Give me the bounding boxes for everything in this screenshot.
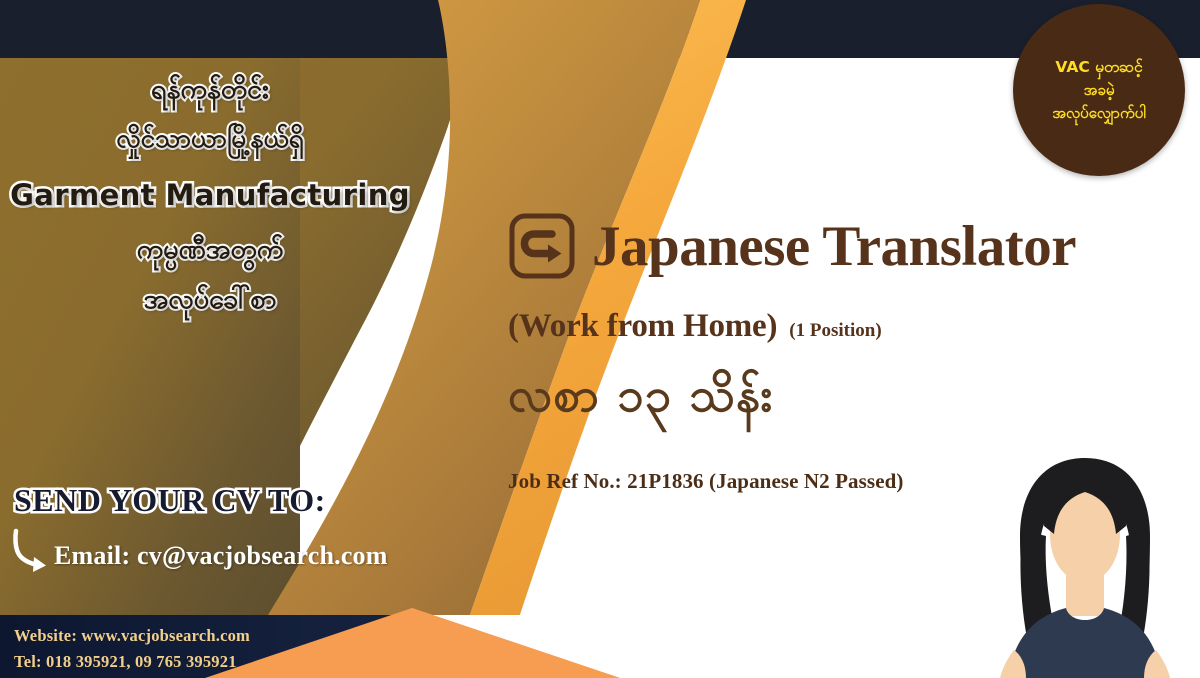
location-region-line: ရန်ကုန်တိုင်း	[0, 76, 420, 104]
location-township-line: လှိုင်သာယာမြို့နယ်ရှိ	[0, 126, 420, 153]
company-for-line: ကုမ္ပဏီအတွက်	[0, 236, 420, 264]
job-announcement-line: အလုပ်ခေါ်စာ	[0, 286, 420, 314]
salary-line: လစာ ၁၃ သိန်း	[508, 369, 1198, 423]
job-title-row: Japanese Translator	[508, 212, 1198, 280]
job-advertisement-poster: ရန်ကုန်တိုင်း လှိုင်သာယာမြို့နယ်ရှိ Garm…	[0, 0, 1200, 678]
job-title: Japanese Translator	[592, 218, 1076, 275]
badge-line-3: အလုပ်လျှောက်ပါ	[1052, 102, 1146, 125]
footer-website[interactable]: Website: www.vacjobsearch.com	[14, 623, 420, 649]
badge-line-2: အခမဲ့	[1084, 79, 1115, 102]
rounded-square-redo-arrow-icon	[508, 212, 576, 280]
email-address[interactable]: Email: cv@vacjobsearch.com	[54, 541, 388, 575]
footer-contact-bar: Website: www.vacjobsearch.com Tel: 018 3…	[0, 615, 420, 678]
footer-telephone[interactable]: Tel: 018 395921, 09 765 395921	[14, 649, 420, 675]
female-avatar-illustration	[970, 440, 1200, 678]
curved-arrow-icon	[8, 527, 50, 575]
send-cv-block: SEND YOUR CV TO: Email: cv@vacjobsearch.…	[0, 482, 420, 575]
job-subtitle-row: (Work from Home) (1 Position)	[508, 308, 1198, 345]
left-text-column: ရန်ကုန်တိုင်း လှိုင်သာယာမြို့နယ်ရှိ Garm…	[0, 76, 420, 336]
email-row: Email: cv@vacjobsearch.com	[0, 527, 420, 575]
badge-line-1: VAC မှတဆင့်	[1055, 56, 1142, 79]
position-count-label: (1 Position)	[789, 320, 881, 342]
work-mode-label: (Work from Home)	[508, 308, 777, 345]
free-application-badge[interactable]: VAC မှတဆင့် အခမဲ့ အလုပ်လျှောက်ပါ	[1013, 4, 1185, 176]
send-cv-title: SEND YOUR CV TO:	[0, 482, 420, 519]
company-type-line: Garment Manufacturing	[0, 178, 420, 212]
